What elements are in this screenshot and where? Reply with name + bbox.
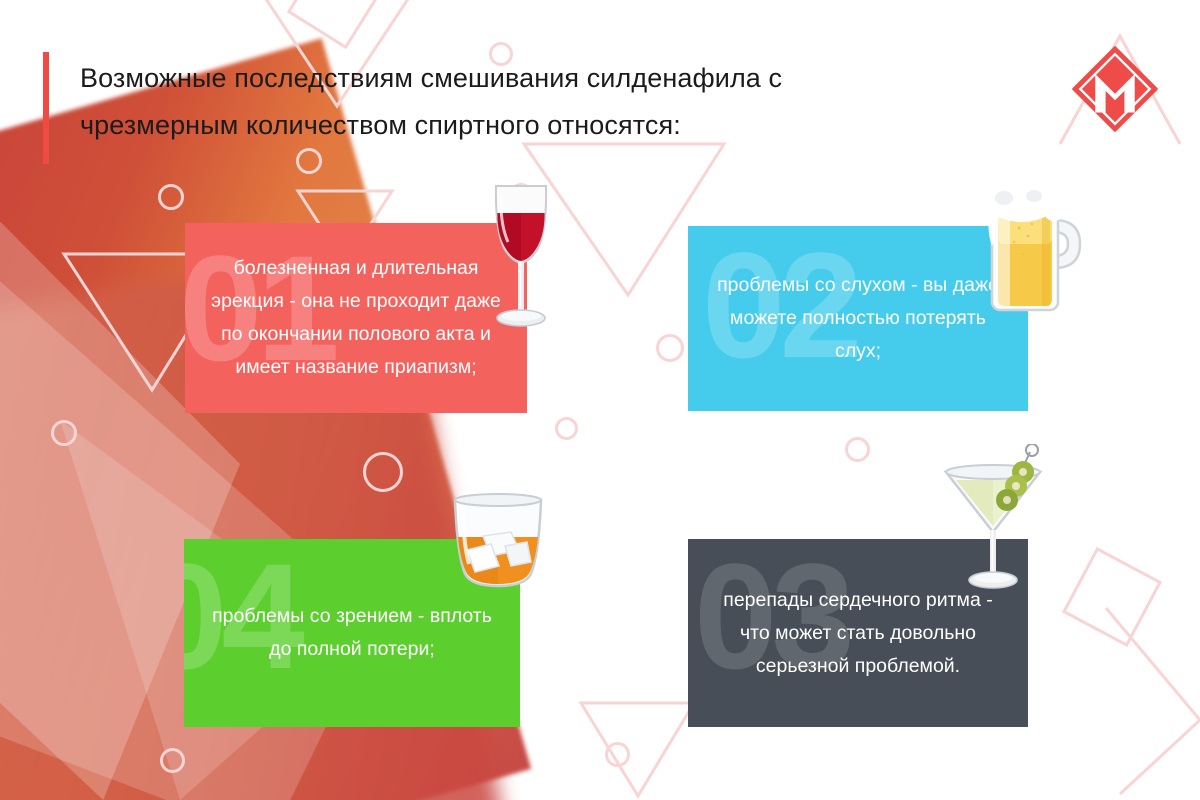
decor-circle-9 [605,742,630,767]
card-01-text: болезненная и длительная эрекция - она н… [185,252,527,384]
page-title: Возможные последствиям смешивания силден… [80,55,910,149]
decor-circle-3 [296,148,322,174]
decor-triangle-7 [1100,600,1200,800]
card-01: 01 болезненная и длительная эрекция - он… [185,223,527,413]
decor-circle-10 [160,748,185,773]
martini-glass-icon [932,444,1054,596]
decor-circle-5 [363,452,403,492]
decor-circle-8 [555,417,578,440]
wine-glass-icon [483,180,559,338]
brand-logo[interactable] [1068,42,1162,136]
decor-circle-1 [158,184,184,210]
card-03-text: перепады сердечного ритма - что может ст… [688,584,1028,683]
card-04-text: проблемы со зрением - вплоть до полной п… [184,600,520,666]
logo-rhombus-icon [1074,48,1157,131]
decor-circle-7 [845,437,870,462]
decor-square-1 [1062,547,1162,647]
decor-triangle-5 [578,700,698,800]
infographic-slide: Возможные последствиям смешивания силден… [0,0,1200,800]
whisky-glass-icon [443,492,553,592]
title-accent-bar [43,52,49,164]
decor-circle-4 [51,420,77,446]
beer-mug-icon [962,168,1088,316]
decor-circle-6 [656,334,684,362]
decor-square-2 [287,0,383,49]
